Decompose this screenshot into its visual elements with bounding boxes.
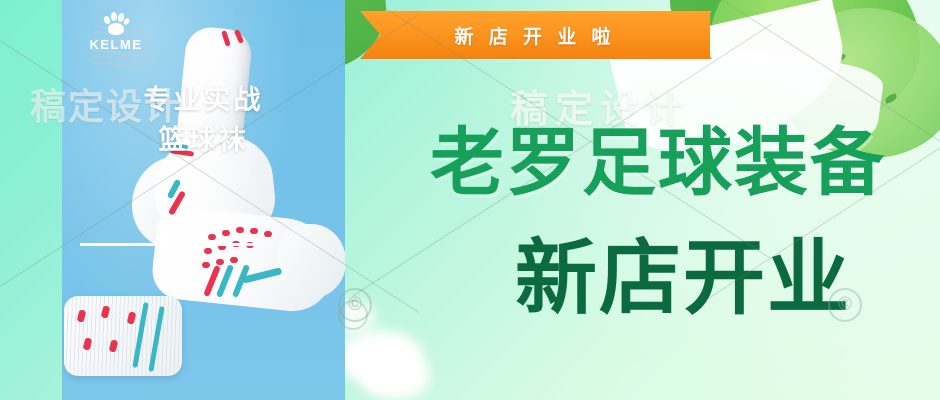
paw-print-icon — [103, 12, 129, 36]
panel-title: 专业实战 — [62, 78, 345, 117]
panel-divider-rule — [80, 243, 255, 246]
headline-secondary: 新店开业 — [515, 238, 851, 320]
product-image-panel: KELME 专业实战 篮球袜 — [62, 0, 345, 400]
brand-logo: KELME — [70, 12, 162, 52]
promo-banner: KELME 专业实战 篮球袜 新 店 开 业 啦 稿定设计 老罗足球装备 新店开… — [0, 0, 940, 400]
promo-ribbon: 新 店 开 业 啦 — [360, 11, 710, 59]
sock-toe — [278, 224, 345, 298]
headline-group: 稿定设计 老罗足球装备 新店开业 — [420, 70, 940, 370]
ribbon-label: 新 店 开 业 啦 — [454, 22, 615, 49]
panel-subtitle: 篮球袜 — [62, 118, 345, 157]
brand-name-label: KELME — [70, 37, 162, 52]
sock-fabric-closeup-swatch — [64, 296, 182, 376]
headline-primary: 老罗足球装备 — [430, 126, 886, 200]
